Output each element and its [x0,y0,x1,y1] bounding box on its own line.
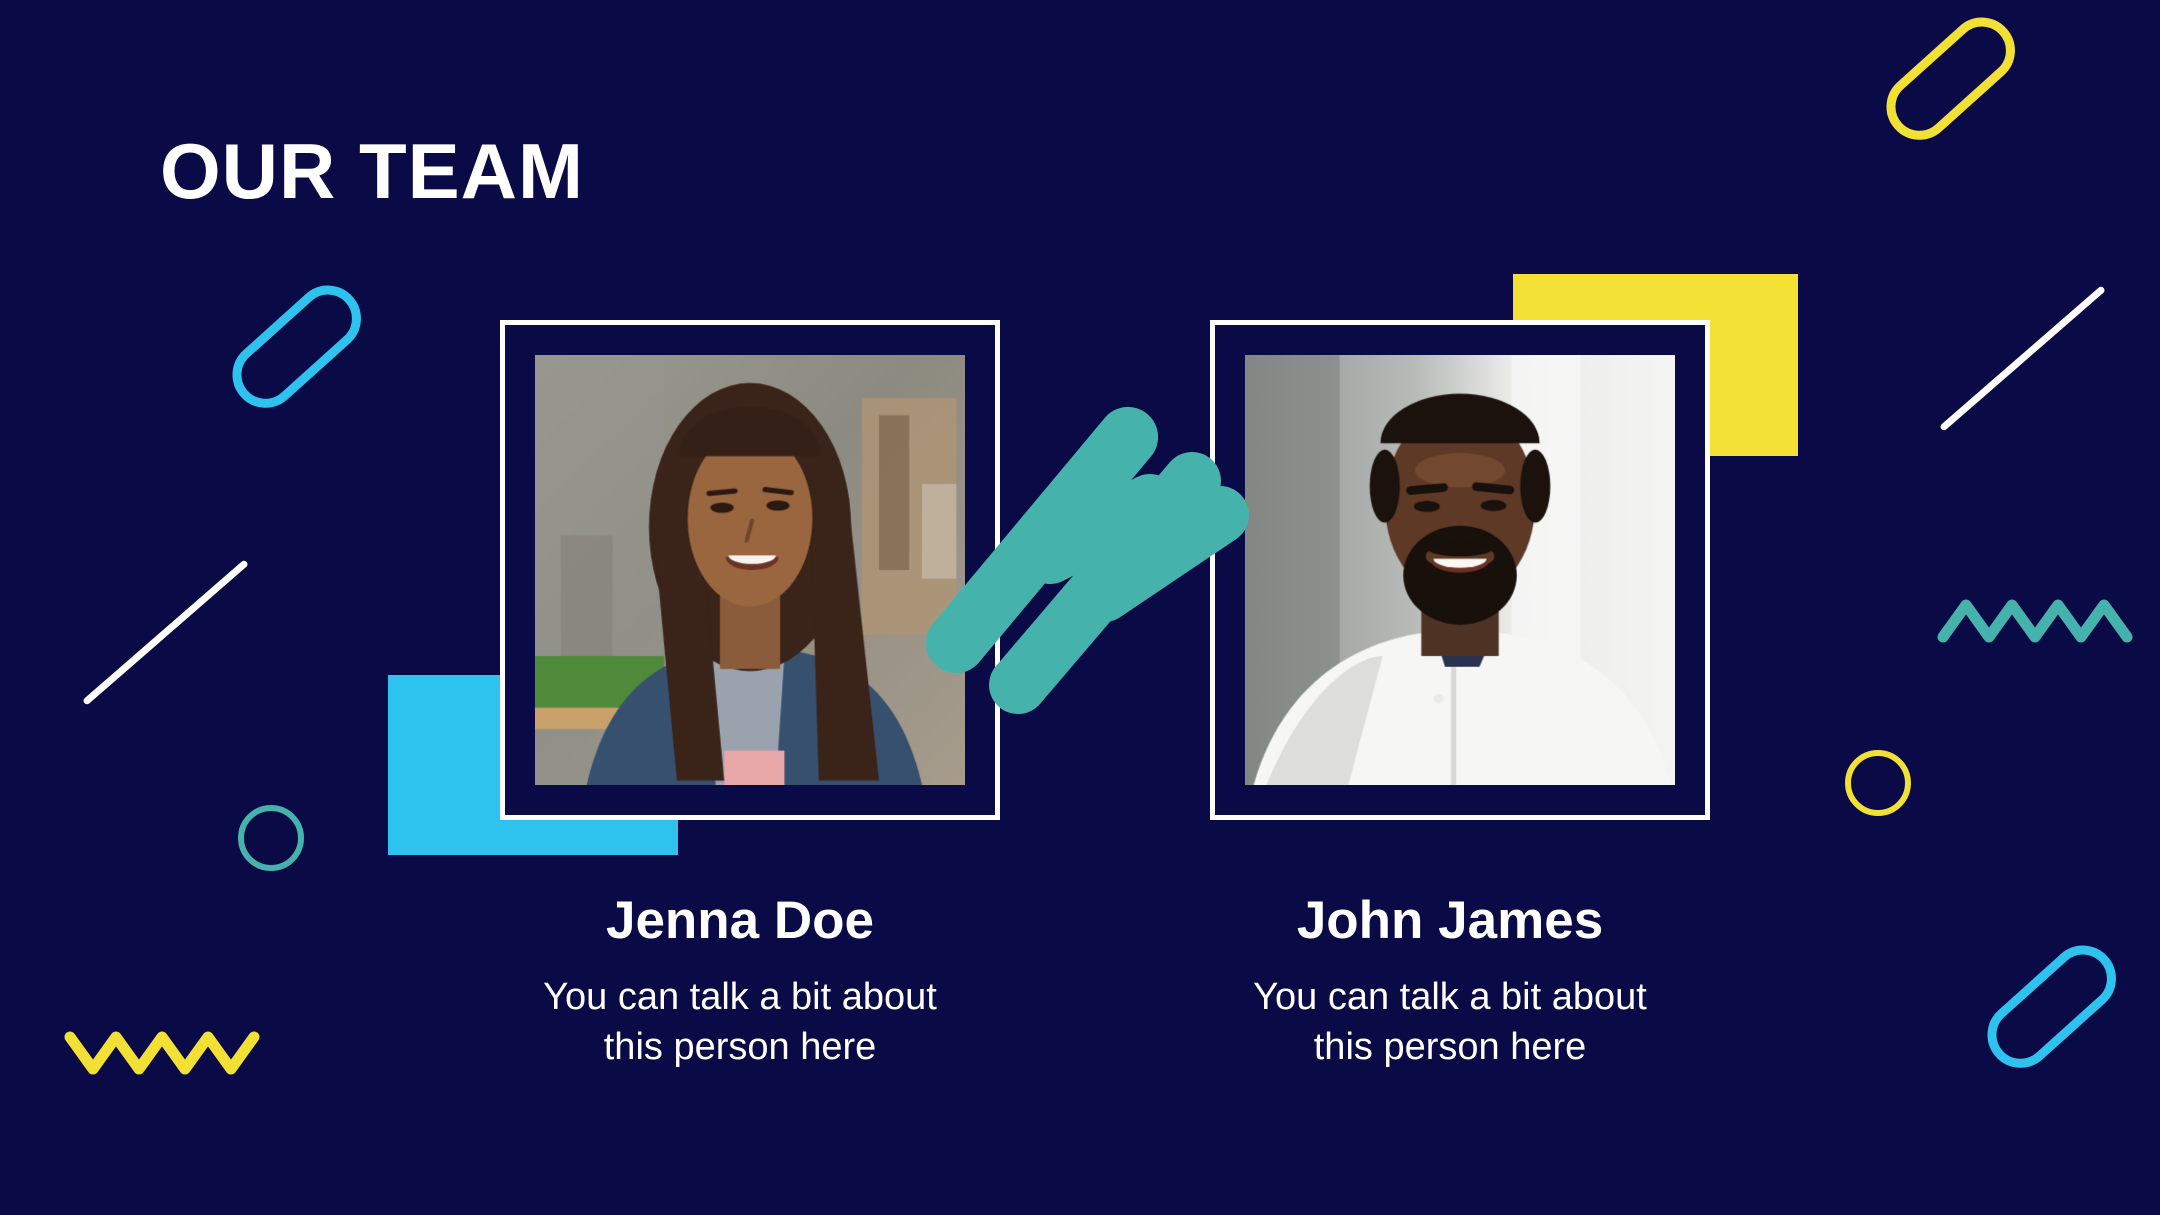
pill-yellow-top-right-icon [1873,16,2003,140]
zigzag-yellow-bottom-left-icon [64,1025,270,1079]
chevron-pair-teal-icon [920,395,1270,715]
line-white-left-icon [82,559,249,705]
ring-yellow-right-icon [1845,750,1911,816]
member-photo-1 [535,355,965,785]
zigzag-teal-right-icon [1937,593,2143,647]
member-description-1-line2: this person here [480,1022,1000,1072]
member-description-2-line1: You can talk a bit about [1190,972,1710,1022]
member-description-1-line1: You can talk a bit about [480,972,1000,1022]
pill-cyan-top-left-icon [219,284,349,408]
member-photo-2 [1245,355,1675,785]
ring-teal-left-icon [238,805,304,871]
member-description-2-line2: this person here [1190,1022,1710,1072]
line-white-right-icon [1939,285,2106,431]
pill-cyan-bottom-right-icon [1974,944,2104,1068]
member-description-2: You can talk a bit about this person her… [1190,972,1710,1072]
slide-our-team: Jenna Doe You can talk a bit about this … [0,0,2160,1215]
member-name-2: John James [1190,893,1710,949]
member-name-1: Jenna Doe [480,893,1000,949]
photo-frame-2 [1210,320,1710,820]
page-title: OUR TEAM [160,132,584,210]
member-description-1: You can talk a bit about this person her… [480,972,1000,1072]
